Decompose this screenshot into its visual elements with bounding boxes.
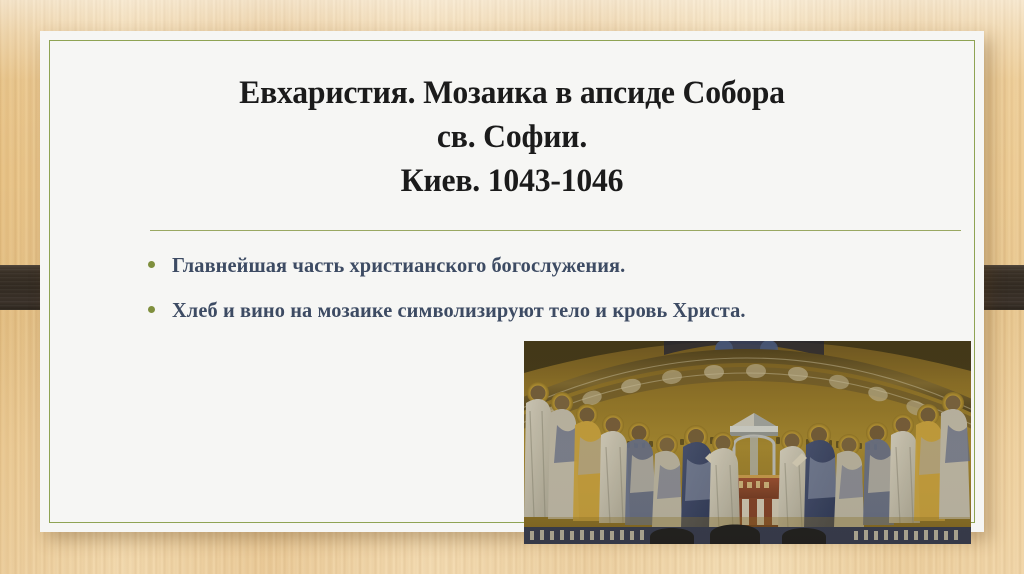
list-item: Хлеб и вино на мозаике символизируют тел… — [148, 295, 888, 326]
bullet-text-2: Хлеб и вино на мозаике символизируют тел… — [172, 295, 746, 326]
page-title: Евхаристия. Мозаика в апсиде Собора св. … — [104, 71, 920, 203]
title-line-1: Евхаристия. Мозаика в апсиде Собора — [120, 71, 903, 115]
bullet-list: Главнейшая часть христианского богослуже… — [148, 250, 888, 340]
title-line-3: Киев. 1043-1046 — [120, 159, 903, 203]
bullet-dot-icon — [148, 261, 155, 268]
mosaic-illustration — [524, 341, 971, 544]
title-line-2: св. Софии. — [120, 115, 903, 159]
mosaic-image — [524, 341, 971, 544]
bullet-text-1: Главнейшая часть христианского богослуже… — [172, 250, 625, 281]
slide-card: Евхаристия. Мозаика в апсиде Собора св. … — [40, 31, 984, 532]
title-divider — [150, 230, 961, 231]
list-item: Главнейшая часть христианского богослуже… — [148, 250, 888, 281]
presentation-slide: Евхаристия. Мозаика в апсиде Собора св. … — [0, 0, 1024, 574]
bullet-dot-icon — [148, 306, 155, 313]
